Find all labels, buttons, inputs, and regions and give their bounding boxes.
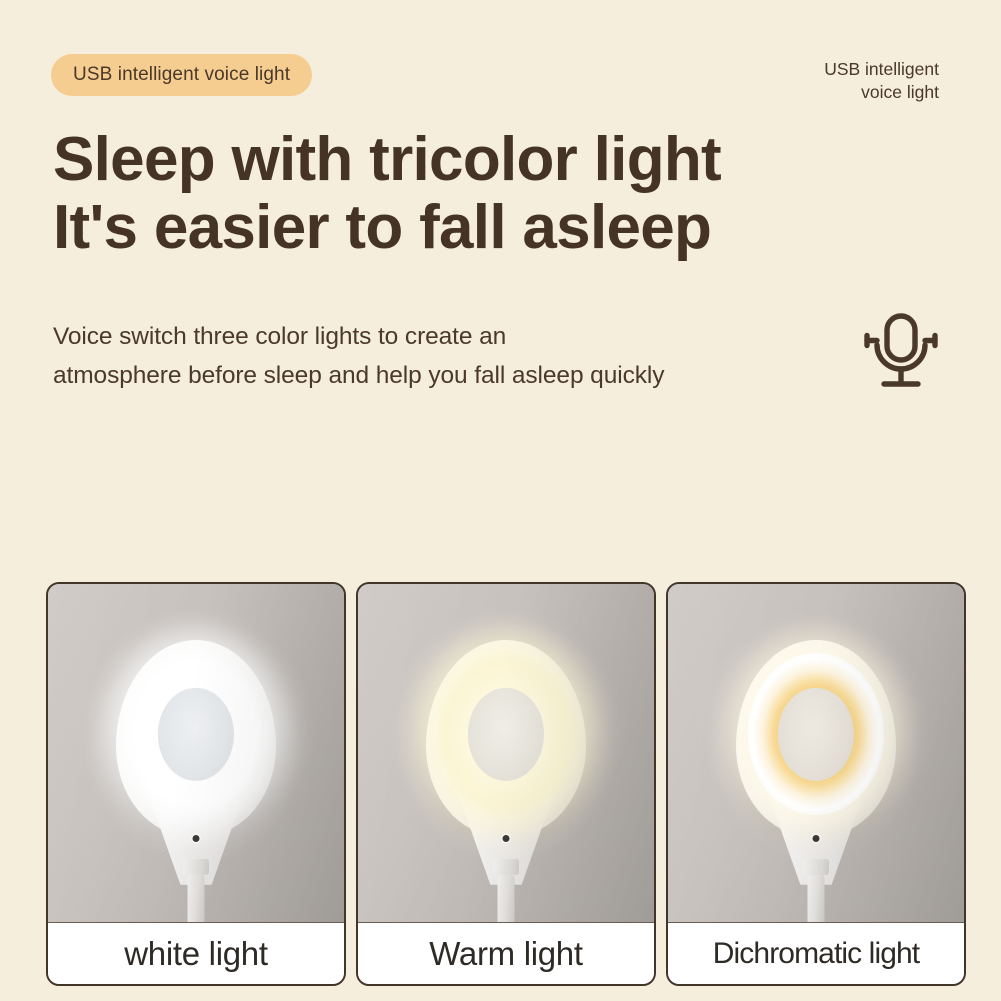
corner-brand-label: USB intelligent voice light [824,58,939,105]
microphone-icon [855,310,947,396]
ring-light [128,653,264,815]
ring-light-inner [468,688,544,780]
page-subtitle-line2: atmosphere before sleep and help you fal… [53,357,664,396]
lamp-illustration [716,584,916,922]
product-photo-dichromatic-light [668,584,964,922]
ring-light [438,653,574,815]
ring-light [748,653,884,815]
page-title-line1: Sleep with tricolor light [53,126,721,194]
product-badge-label: USB intelligent voice light [73,64,290,86]
product-photo-warm-light [358,584,654,922]
page-subtitle: Voice switch three color lights to creat… [53,318,664,395]
light-mode-card-warm[interactable]: Warm light [356,582,656,986]
lamp-stem [188,875,205,922]
sensor-dot [503,835,510,842]
lamp-illustration [96,584,296,922]
ring-light-inner [158,688,234,780]
lamp-collar [493,859,519,875]
page-subtitle-line1: Voice switch three color lights to creat… [53,318,664,357]
lamp-collar [803,859,829,875]
light-mode-label-white: white light [48,922,344,984]
light-mode-card-row: white light Warm light [46,582,966,986]
ring-light-inner [778,688,854,780]
page-title: Sleep with tricolor light It's easier to… [53,126,721,262]
sensor-dot [193,835,200,842]
lamp-illustration [406,584,606,922]
lamp-stem [498,875,515,922]
sensor-dot [813,835,820,842]
light-mode-label-dichromatic: Dichromatic light [668,922,964,984]
lamp-collar [183,859,209,875]
light-mode-label-warm: Warm light [358,922,654,984]
product-photo-white-light [48,584,344,922]
product-badge: USB intelligent voice light [51,54,312,96]
corner-brand-label-line2: voice light [824,81,939,104]
corner-brand-label-line1: USB intelligent [824,58,939,81]
lamp-stem [808,875,825,922]
light-mode-card-dichromatic[interactable]: Dichromatic light [666,582,966,986]
light-mode-card-white[interactable]: white light [46,582,346,986]
page-title-line2: It's easier to fall asleep [53,194,721,262]
